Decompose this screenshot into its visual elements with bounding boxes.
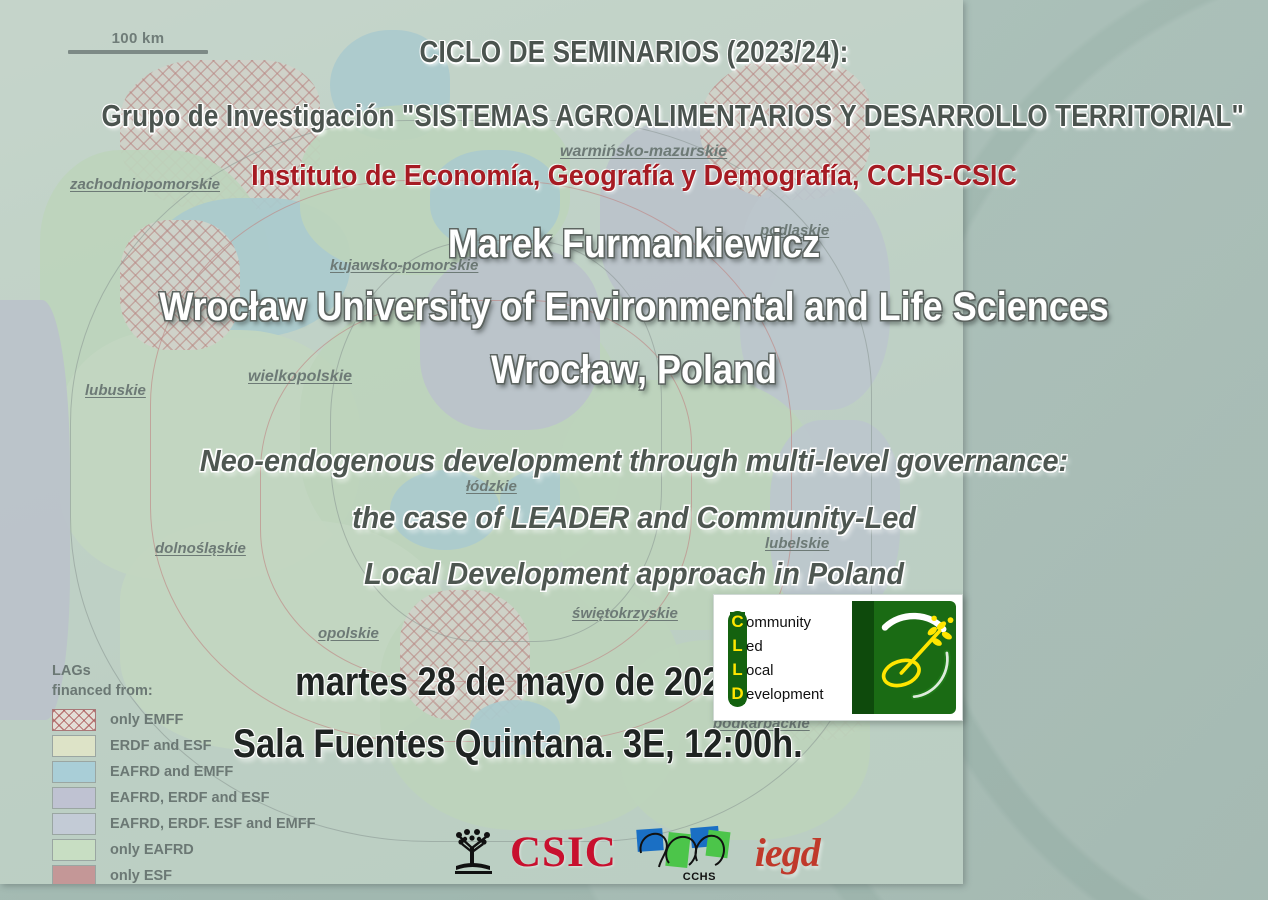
clld-initial: D — [730, 684, 745, 704]
clld-word: ocal — [746, 662, 774, 679]
clld-row: Development — [730, 683, 824, 705]
clld-word: ed — [746, 638, 763, 655]
event-venue: Sala Fuentes Quintana. 3E, 12:00h. — [89, 722, 1179, 767]
poster-content: CICLO DE SEMINARIOS (2023/24): Grupo de … — [0, 0, 1268, 900]
clld-row: Community — [730, 611, 811, 633]
clld-emblem-panel — [874, 601, 956, 714]
speaker-affiliation: Wrocław University of Environmental and … — [63, 285, 1204, 330]
institute-title: Instituto de Economía, Geografía y Demog… — [44, 160, 1223, 193]
cchs-label: CCHS — [683, 871, 716, 883]
clld-row: Led — [730, 635, 763, 657]
clld-logo-inner: CommunityLedLocalDevelopment — [720, 601, 956, 714]
research-group-title: Grupo de Investigación "SISTEMAS AGROALI… — [101, 98, 1166, 134]
clld-initial: L — [730, 636, 745, 656]
csic-wordmark: CSIC — [510, 828, 617, 877]
talk-title-line-3: Local Development approach in Poland — [44, 556, 1223, 592]
talk-title-line-1: Neo-endogenous development through multi… — [44, 443, 1223, 479]
iegd-wordmark: iegd — [755, 829, 820, 876]
clld-word: evelopment — [746, 686, 824, 703]
clld-row: Local — [730, 659, 774, 681]
clld-word: ommunity — [746, 614, 811, 631]
seminar-series-title: CICLO DE SEMINARIOS (2023/24): — [101, 34, 1166, 70]
clld-logo: CommunityLedLocalDevelopment — [713, 594, 963, 721]
clld-wheat-icon — [874, 601, 956, 714]
clld-divider-band — [852, 601, 874, 714]
event-date: martes 28 de mayo de 2024 — [89, 660, 1179, 705]
speaker-location: Wrocław, Poland — [63, 348, 1204, 393]
talk-title-line-2: the case of LEADER and Community-Led — [44, 500, 1223, 536]
sponsor-logos: CSIC CCHS iegd — [452, 818, 820, 886]
cchs-logo: CCHS — [631, 823, 741, 881]
csic-emblem-icon — [452, 828, 496, 876]
clld-initial: C — [730, 612, 745, 632]
clld-text-panel: CommunityLedLocalDevelopment — [720, 601, 852, 714]
speaker-name: Marek Furmankiewicz — [63, 222, 1204, 267]
clld-initial: L — [730, 660, 745, 680]
